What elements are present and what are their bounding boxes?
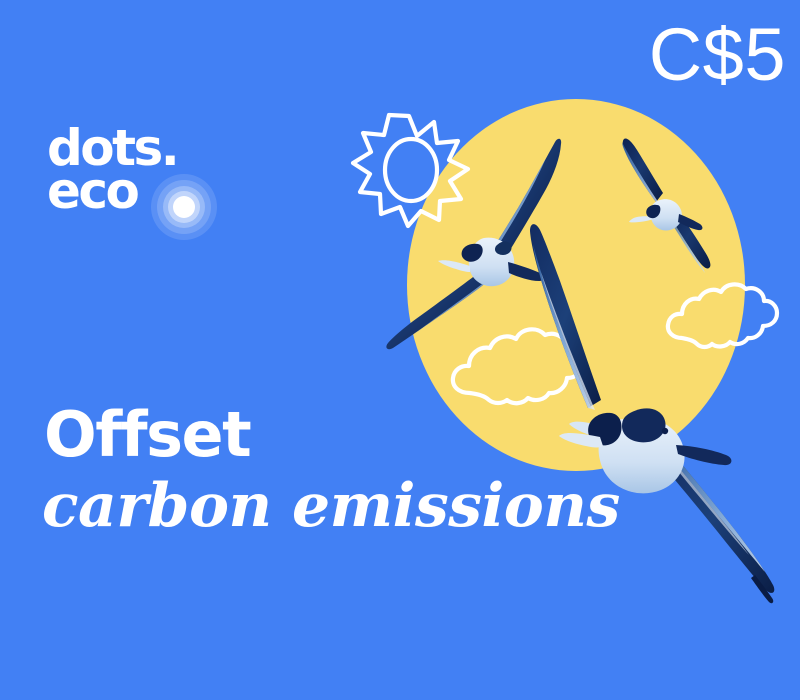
- headline-primary: Offset: [44, 404, 250, 466]
- glowing-dot-icon: [151, 174, 217, 240]
- gift-card-artwork: C$5 dots. eco Offset carbon emissions: [0, 0, 800, 700]
- sun-disc: [407, 99, 745, 471]
- glow-dot-core: [173, 196, 195, 218]
- brand-logo: dots. eco: [47, 128, 277, 212]
- headline-secondary: carbon emissions: [42, 476, 620, 536]
- price-label: C$5: [649, 18, 786, 92]
